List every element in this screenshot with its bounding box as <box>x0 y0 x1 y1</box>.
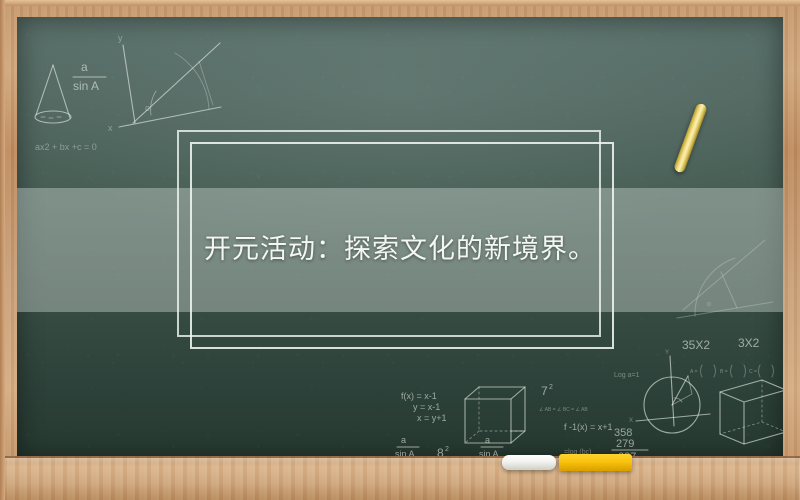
chalk-triangle-relation: ∠ AB = ∠ BC = ∠ AB <box>539 407 588 413</box>
chalk-axis-y-label: y <box>118 33 123 43</box>
chalk-fraction2-numerator: a <box>401 435 406 445</box>
headline-text: 开元活动：探索文化的新境界。 <box>17 227 783 266</box>
chalk-eight-exponent: 2 <box>445 446 449 453</box>
chalk-function-line-3: x = y+1 <box>417 413 447 423</box>
chalk-angle-label: o <box>145 103 150 113</box>
chalk-matrix-a-label: A = <box>690 369 697 375</box>
chalk-matrix-dim-2: 3X2 <box>738 336 760 350</box>
chalk-ledge <box>0 456 800 500</box>
chalk-fraction-numerator: a <box>81 60 88 74</box>
chalk-sub-subtrahend: 279 <box>616 438 634 450</box>
chalk-matrix-dim-1: 35X2 <box>682 338 710 352</box>
chalk-function-line-2: y = x-1 <box>413 402 440 412</box>
chalk-fraction3-numerator: a <box>485 435 490 445</box>
chalk-axis-x-label: x <box>108 123 113 133</box>
chalk-quadratic-equation: ax2 + bx +c = 0 <box>35 142 97 152</box>
chalkboard-surface: a sin A ax2 + bx +c = 0 y x o f(x) = x-1 <box>17 17 783 460</box>
chalk-circle-axis-x: X <box>629 418 633 424</box>
chalk-fraction-denominator: sin A <box>73 79 99 93</box>
chalk-inverse-function: f -1(x) = x+1 <box>564 422 613 432</box>
wooden-board-frame: a sin A ax2 + bx +c = 0 y x o f(x) = x-1 <box>0 0 800 500</box>
chalk-log-label: Log a=1 <box>614 372 640 379</box>
chalk-group-bottom-right: 35X2 3X2 Log a=1 =log (bc) A = B = C = Y… <box>562 332 783 460</box>
chalk-matrix-b-label: B = <box>720 369 728 375</box>
chalk-function-line-1: f(x) = x-1 <box>401 391 437 401</box>
chalk-matrix-c-label: C = <box>749 369 757 375</box>
yellow-eraser-icon <box>559 454 632 471</box>
chalk-sub-minuend: 358 <box>614 427 632 439</box>
yellow-chalk-stick-icon <box>673 102 708 173</box>
chalk-seven-base: 7 <box>541 384 548 398</box>
chalk-circle-axis-y: Y <box>665 350 669 356</box>
chalk-seven-exponent: 2 <box>549 384 553 391</box>
white-chalk-icon <box>502 455 556 470</box>
chalk-group-bottom-center: f(x) = x-1 y = x-1 x = y+1 7 2 ∠ AB = ∠ … <box>389 377 589 460</box>
chalk-right-angle-label: o <box>707 301 711 308</box>
